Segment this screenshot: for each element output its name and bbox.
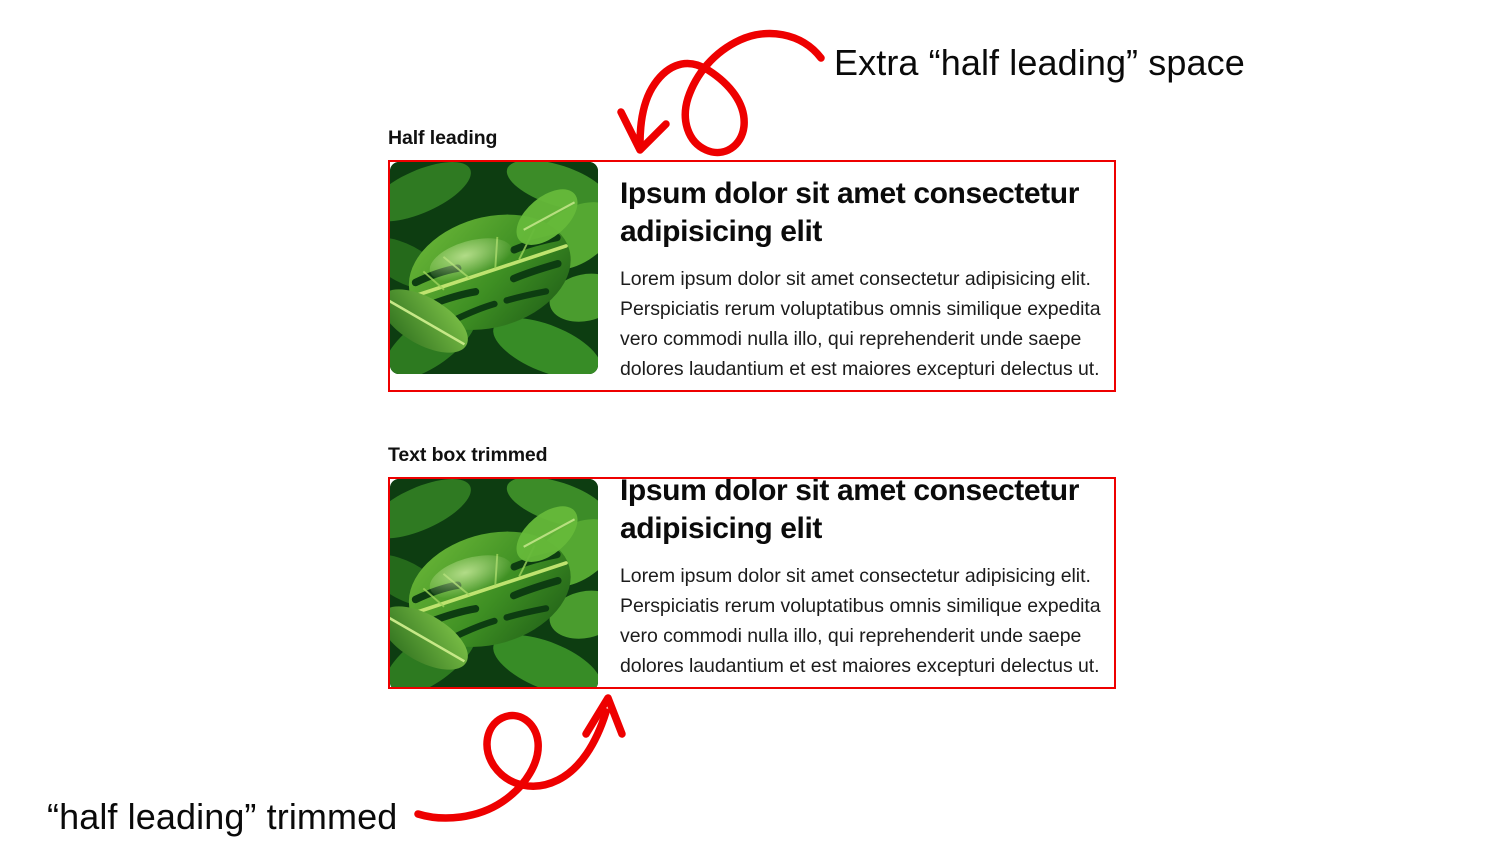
canvas: Extra “half leading” space Half leading — [0, 0, 1507, 863]
annotation-bottom-label: “half leading” trimmed — [47, 795, 397, 838]
card-text-half-leading: Lorem ipsum dolor sit amet consectetur a… — [620, 264, 1114, 384]
card-text-trimmed: Lorem ipsum dolor sit amet consectetur a… — [620, 561, 1114, 681]
example-label-trimmed: Text box trimmed — [388, 443, 1116, 467]
card-image-half-leading — [390, 162, 598, 374]
card-title-half-leading: Ipsum dolor sit amet consectetur adipisi… — [620, 175, 1114, 251]
card-body-half-leading: Ipsum dolor sit amet consectetur adipisi… — [598, 162, 1114, 384]
monstera-leaves-photo — [390, 479, 598, 689]
card-image-trimmed — [390, 479, 598, 689]
annotation-top-label: Extra “half leading” space — [834, 41, 1245, 84]
card-text-box-trimmed: Ipsum dolor sit amet consectetur adipisi… — [388, 477, 1116, 689]
card-body-trimmed: Ipsum dolor sit amet consectetur adipisi… — [598, 477, 1114, 681]
card-title-trimmed: Ipsum dolor sit amet consectetur adipisi… — [620, 477, 1114, 548]
card-half-leading: Ipsum dolor sit amet consectetur adipisi… — [388, 160, 1116, 392]
example-text-box-trimmed: Text box trimmed — [388, 443, 1116, 689]
example-label-half-leading: Half leading — [388, 126, 1116, 150]
example-half-leading: Half leading — [388, 126, 1116, 392]
monstera-leaves-photo — [390, 162, 598, 374]
curved-loop-arrow-up-right-icon — [416, 688, 646, 828]
